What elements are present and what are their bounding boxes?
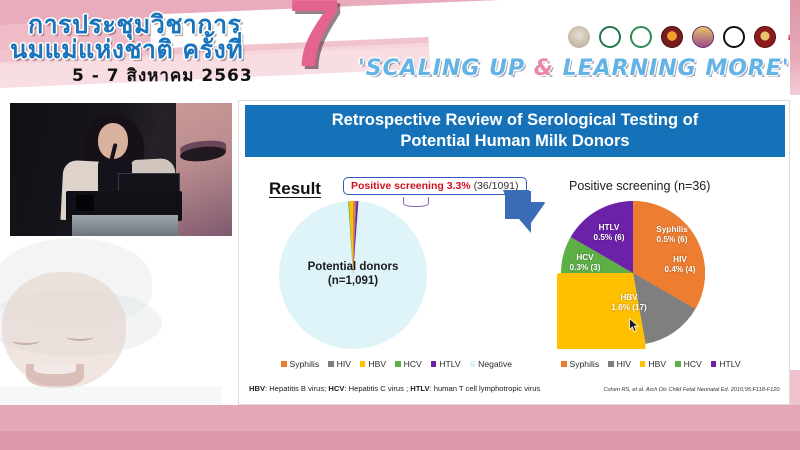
slide-title-line2: Potential Human Milk Donors bbox=[400, 131, 629, 152]
slide-footnote: HBV: Hepatitis B virus; HCV: Hepatitis C… bbox=[249, 384, 781, 393]
bottom-pink-bar bbox=[0, 405, 800, 450]
citation-text: Cohen RS, et al. Arch Dis Child Fetal Ne… bbox=[603, 387, 781, 393]
podium-base bbox=[72, 215, 178, 236]
legend-item-hcv[interactable]: HCV bbox=[395, 359, 422, 369]
conference-tagline: 'SCALING UP & LEARNING MORE' bbox=[358, 56, 790, 81]
legend-swatch-htlv bbox=[431, 361, 437, 367]
legend-label-hcv: HCV bbox=[404, 359, 422, 369]
pie-chart-potential-donors[interactable]: Potential donors (n=1,091) bbox=[279, 201, 427, 349]
abbrev-htlv: HTLV bbox=[410, 384, 429, 393]
slide-title: Retrospective Review of Serological Test… bbox=[245, 105, 785, 157]
legend2-label-syphilis: Syphilis bbox=[570, 359, 600, 369]
legend-swatch-negative bbox=[470, 361, 476, 367]
legend2-swatch-hcv bbox=[675, 361, 681, 367]
legend-label-hbv: HBV bbox=[368, 359, 386, 369]
medical-council-logo bbox=[752, 24, 778, 54]
pie-left-label-subtitle: (n=1,091) bbox=[279, 275, 427, 287]
legend-swatch-hbv bbox=[360, 361, 366, 367]
legend2-label-htlv: HTLV bbox=[719, 359, 740, 369]
legend2-item-htlv[interactable]: HTLV bbox=[711, 359, 741, 369]
tagline-ampersand: & bbox=[534, 56, 554, 81]
abbrev-hcv: HCV bbox=[328, 384, 344, 393]
legend2-swatch-htlv bbox=[711, 361, 717, 367]
sponsor-logo-row: สสส bbox=[566, 24, 800, 54]
legend2-swatch-hbv bbox=[640, 361, 646, 367]
abbrev-hcv-text: : Hepatitis C virus ; bbox=[344, 384, 410, 393]
legend-label-htlv: HTLV bbox=[439, 359, 460, 369]
conference-date: 5 - 7 สิงหาคม 2563 bbox=[72, 62, 253, 89]
slide-title-line1: Retrospective Review of Serological Test… bbox=[332, 110, 698, 131]
slide-right-margin bbox=[790, 95, 800, 405]
slice-label-hcv: HCV0.3% (3) bbox=[561, 253, 609, 273]
legend2-item-hbv[interactable]: HBV bbox=[640, 359, 666, 369]
legend-potential-donors: Syphilis HIV HBV HCV HTLV Negative bbox=[281, 359, 512, 369]
legend-positive-screening: Syphilis HIV HBV HCV HTLV bbox=[561, 359, 741, 369]
thai-breastfeeding-logo bbox=[628, 24, 654, 54]
child-teeth bbox=[34, 364, 76, 374]
right-chart-title: Positive screening (n=36) bbox=[569, 179, 710, 193]
legend-swatch-syphilis bbox=[281, 361, 287, 367]
legend2-swatch-hiv bbox=[608, 361, 614, 367]
legend-item-htlv[interactable]: HTLV bbox=[431, 359, 461, 369]
presentation-screen: การประชุมวิชาการ นมแม่แห่งชาติ ครั้งที่ … bbox=[0, 0, 800, 450]
legend2-swatch-syphilis bbox=[561, 361, 567, 367]
positive-screening-callout: Positive screening 3.3% (36/1091) bbox=[343, 177, 527, 195]
conference-banner: การประชุมวิชาการ นมแม่แห่งชาติ ครั้งที่ … bbox=[0, 0, 800, 95]
legend2-item-hcv[interactable]: HCV bbox=[675, 359, 702, 369]
legend2-label-hcv: HCV bbox=[684, 359, 702, 369]
banner-right-edge bbox=[790, 0, 800, 95]
nursing-council-logo bbox=[721, 24, 747, 54]
smiling-child-photo bbox=[0, 236, 236, 426]
ministry-health-logo bbox=[597, 24, 623, 54]
legend2-item-hiv[interactable]: HIV bbox=[608, 359, 631, 369]
bottom-pink-bar-top bbox=[0, 405, 800, 431]
abbreviation-note: HBV: Hepatitis B virus; HCV: Hepatitis C… bbox=[249, 384, 540, 393]
legend-swatch-hiv bbox=[328, 361, 334, 367]
royal-garuda-logo bbox=[690, 24, 716, 54]
legend-item-hiv[interactable]: HIV bbox=[328, 359, 351, 369]
legend2-item-syphilis[interactable]: Syphilis bbox=[561, 359, 599, 369]
slice-label-hbv: HBV1.6% (17) bbox=[603, 293, 655, 313]
tagline-part1: 'SCALING UP bbox=[358, 56, 534, 81]
legend-label-syphilis: Syphilis bbox=[290, 359, 320, 369]
legend-label-hiv: HIV bbox=[337, 359, 351, 369]
abbrev-htlv-text: : human T cell lymphotropic virus bbox=[430, 384, 541, 393]
slide-right-pink-accent bbox=[790, 370, 800, 406]
legend-label-negative: Negative bbox=[478, 359, 512, 369]
legend2-label-hbv: HBV bbox=[648, 359, 666, 369]
abbrev-hbv-text: : Hepatitis B virus; bbox=[265, 384, 328, 393]
university-emblem-logo bbox=[659, 24, 685, 54]
tagline-part2: LEARNING MORE' bbox=[554, 56, 790, 81]
conference-edition-number: 7 bbox=[288, 0, 341, 82]
child-eye-left bbox=[12, 336, 40, 345]
result-heading: Result bbox=[269, 179, 321, 199]
legend-item-hbv[interactable]: HBV bbox=[360, 359, 386, 369]
slice-label-syphilis: Syphilis0.5% (6) bbox=[645, 225, 699, 245]
blue-arrow-icon bbox=[501, 189, 549, 235]
legend-item-negative[interactable]: Negative bbox=[470, 359, 512, 369]
child-eye-right bbox=[66, 332, 94, 341]
mouse-cursor-icon bbox=[629, 318, 640, 333]
legend2-label-hiv: HIV bbox=[617, 359, 631, 369]
royal-seal-logo bbox=[566, 24, 592, 54]
slide-panel: Retrospective Review of Serological Test… bbox=[238, 100, 790, 405]
podium-plate bbox=[76, 195, 94, 211]
video-overlay-face bbox=[176, 103, 232, 236]
speaker-video-feed[interactable] bbox=[10, 103, 232, 236]
legend-item-syphilis[interactable]: Syphilis bbox=[281, 359, 319, 369]
callout-highlight: Positive screening 3.3% bbox=[351, 180, 471, 192]
slice-label-htlv: HTLV0.5% (6) bbox=[583, 223, 635, 243]
slice-label-hiv: HIV0.4% (4) bbox=[657, 255, 703, 275]
abbrev-hbv: HBV bbox=[249, 384, 265, 393]
pie-left-label-title: Potential donors bbox=[279, 261, 427, 273]
legend-swatch-hcv bbox=[395, 361, 401, 367]
